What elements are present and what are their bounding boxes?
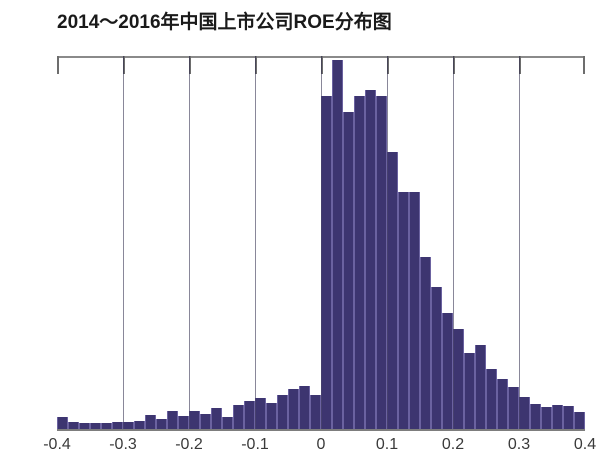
histogram-bar (167, 411, 178, 429)
inner-gridline (255, 56, 256, 429)
histogram-bar (519, 397, 530, 429)
bottom-axis-line (57, 429, 585, 431)
histogram-bar (398, 192, 409, 429)
histogram-bar (255, 398, 266, 429)
histogram-bar (376, 96, 387, 429)
histogram-bar (409, 192, 420, 429)
histogram-bar (574, 412, 585, 429)
histogram-bar (233, 405, 244, 429)
x-axis-tick-label: 0.3 (508, 436, 530, 454)
x-axis-tick-label: 0 (317, 436, 326, 454)
histogram-bar (530, 404, 541, 429)
histogram-bar (552, 405, 563, 429)
inner-gridline (387, 56, 388, 429)
x-axis-tick-label: -0.4 (43, 436, 71, 454)
x-axis-tick-label: 0.4 (574, 436, 596, 454)
histogram-bar (332, 60, 343, 429)
histogram-bar (222, 417, 233, 429)
histogram-bar (134, 421, 145, 429)
histogram-bar (442, 313, 453, 429)
histogram-bar (211, 408, 222, 429)
histogram-bar (189, 411, 200, 429)
x-axis-tick-label: 0.1 (376, 436, 398, 454)
histogram-bar (112, 422, 123, 429)
histogram-bar (541, 407, 552, 429)
chart-title: 2014～2016年中国上市公司ROE分布图 (57, 10, 392, 36)
x-axis-tick-label: -0.1 (241, 436, 269, 454)
histogram-bar (310, 395, 321, 429)
histogram-bar (453, 329, 464, 429)
histogram-bar (68, 422, 79, 429)
inner-gridline (321, 56, 322, 429)
inner-gridline (453, 56, 454, 429)
histogram-bar (563, 406, 574, 429)
histogram-bar (387, 152, 398, 429)
inner-gridline (189, 56, 190, 429)
histogram-bar (156, 419, 167, 429)
histogram-bar (354, 96, 365, 429)
x-axis-tick-label: -0.2 (175, 436, 203, 454)
histogram-bar (497, 379, 508, 429)
histogram-bar (343, 112, 354, 429)
inner-gridline (519, 56, 520, 429)
histogram-bar (57, 417, 68, 429)
histogram-bar (486, 369, 497, 429)
histogram-bar (288, 389, 299, 429)
histogram-bar (178, 416, 189, 429)
histogram-bar (475, 345, 486, 429)
histogram-bar (277, 395, 288, 429)
histogram-bar (431, 287, 442, 429)
x-axis-tick-label: -0.3 (109, 436, 137, 454)
x-axis-tick-label: 0.2 (442, 436, 464, 454)
histogram-bar (321, 96, 332, 429)
histogram-bar (299, 386, 310, 429)
histogram-bar (123, 422, 134, 429)
histogram-bar (365, 90, 376, 429)
plot-area (57, 56, 585, 429)
histogram-bar (145, 415, 156, 429)
histogram-bar (266, 403, 277, 429)
histogram-bar (420, 257, 431, 429)
inner-gridline (123, 56, 124, 429)
chart-root: 2014～2016年中国上市公司ROE分布图 -0.4-0.3-0.2-0.10… (0, 0, 600, 474)
histogram-bar (244, 401, 255, 429)
histogram-bar (200, 414, 211, 429)
histogram-bar (508, 387, 519, 429)
histogram-bar (464, 353, 475, 429)
